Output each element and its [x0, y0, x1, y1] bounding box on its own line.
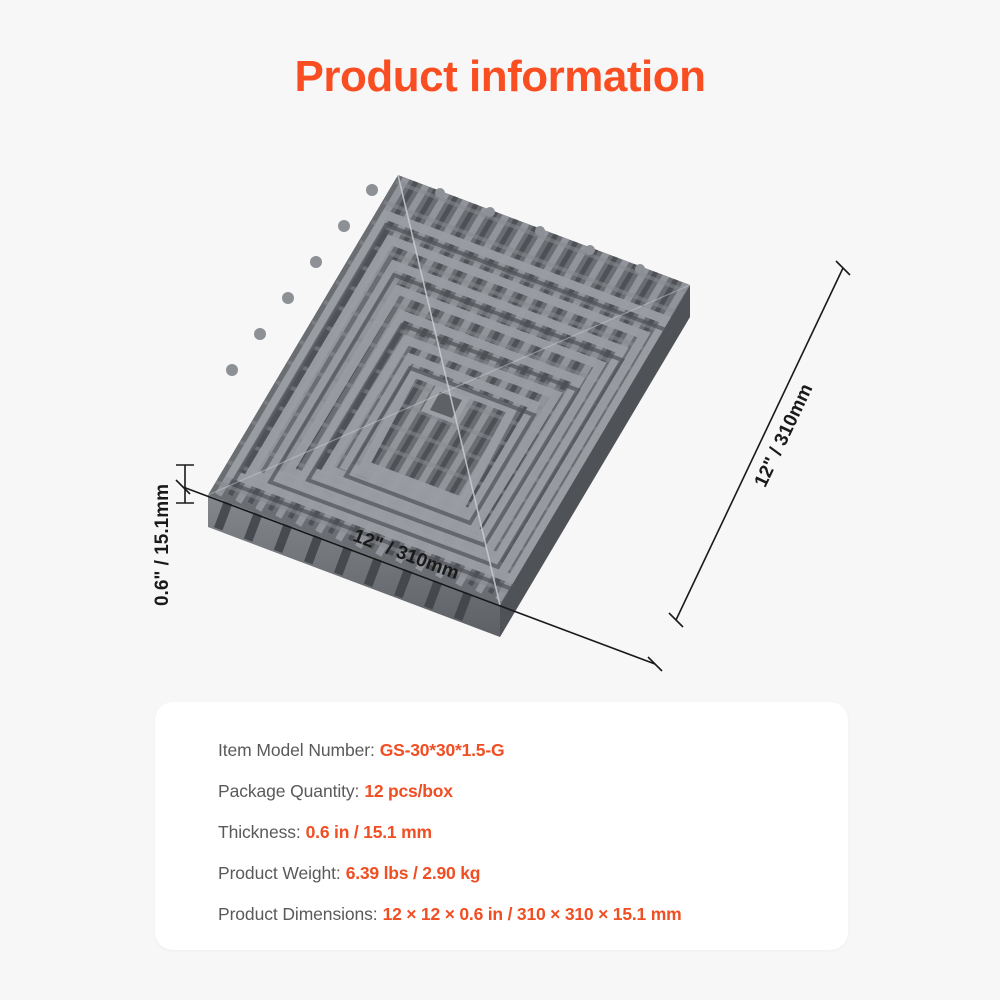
spec-row-package-quantity: Package Quantity: 12 pcs/box: [218, 771, 828, 812]
depth-dimension-line: [669, 261, 850, 627]
product-illustration: 0.6" / 15.1mm 12" / 310mm 12" / 310mm: [0, 130, 1000, 690]
page-title: Product information: [0, 52, 1000, 102]
spec-value: GS-30*30*1.5-G: [380, 742, 505, 760]
spec-row-item-model-number: Item Model Number: GS-30*30*1.5-G: [218, 730, 828, 771]
spec-label: Thickness:: [218, 824, 301, 842]
spec-row-product-dimensions: Product Dimensions: 12 × 12 × 0.6 in / 3…: [218, 894, 828, 935]
thickness-dimension-marker: [176, 465, 194, 503]
specification-card: Item Model Number: GS-30*30*1.5-G Packag…: [155, 702, 848, 950]
spec-label: Item Model Number:: [218, 742, 375, 760]
spec-label: Package Quantity:: [218, 783, 359, 801]
spec-value: 12 pcs/box: [364, 783, 452, 801]
product-information-page: Product information: [0, 0, 1000, 1000]
thickness-dimension-label: 0.6" / 15.1mm: [152, 484, 173, 606]
depth-dimension-label: 12" / 310mm: [751, 381, 818, 491]
spec-value: 6.39 lbs / 2.90 kg: [346, 865, 481, 883]
spec-value: 12 × 12 × 0.6 in / 310 × 310 × 15.1 mm: [383, 906, 682, 924]
spec-value: 0.6 in / 15.1 mm: [306, 824, 432, 842]
spec-row-product-weight: Product Weight: 6.39 lbs / 2.90 kg: [218, 853, 828, 894]
spec-label: Product Weight:: [218, 865, 341, 883]
spec-row-thickness: Thickness: 0.6 in / 15.1 mm: [218, 812, 828, 853]
specification-list: Item Model Number: GS-30*30*1.5-G Packag…: [218, 730, 828, 935]
spec-label: Product Dimensions:: [218, 906, 378, 924]
